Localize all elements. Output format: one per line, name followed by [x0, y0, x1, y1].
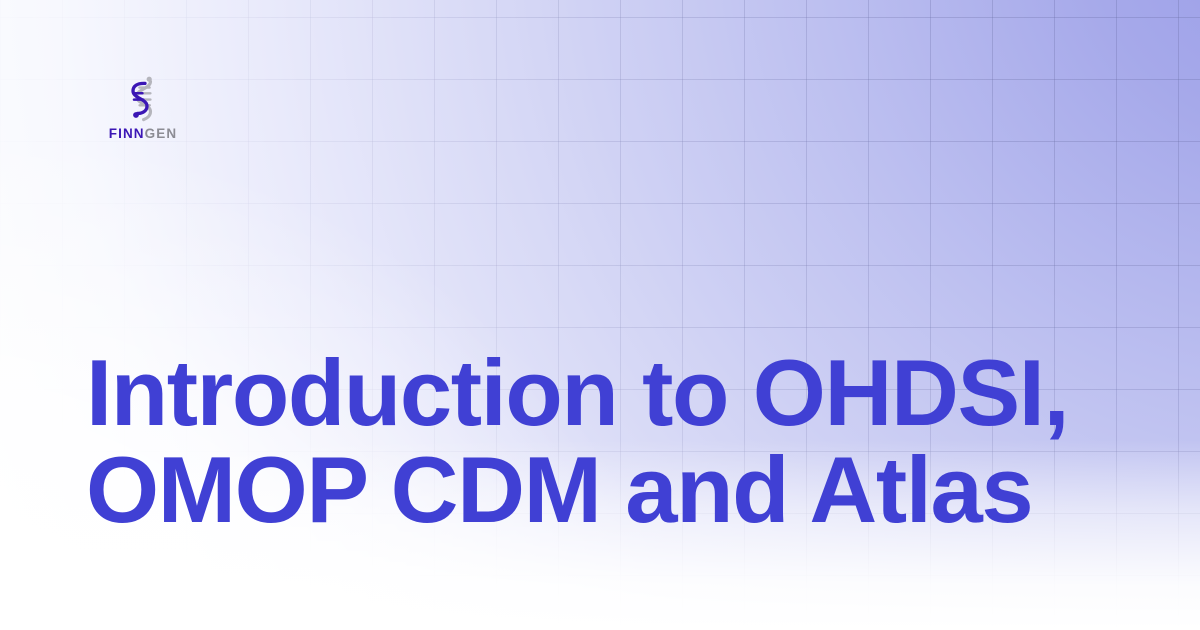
- page-title: Introduction to OHDSI, OMOP CDM and Atla…: [86, 344, 1156, 538]
- slide-canvas: FINNGEN Introduction to OHDSI, OMOP CDM …: [0, 0, 1200, 630]
- finngen-logo: FINNGEN: [78, 74, 208, 141]
- dna-helix-icon: [123, 74, 163, 124]
- finngen-wordmark: FINNGEN: [109, 127, 177, 141]
- page-title-line-1: Introduction to OHDSI,: [86, 344, 1156, 441]
- wordmark-finn: FINN: [109, 126, 145, 141]
- page-title-line-2: OMOP CDM and Atlas: [86, 441, 1156, 538]
- wordmark-gen: GEN: [145, 126, 178, 141]
